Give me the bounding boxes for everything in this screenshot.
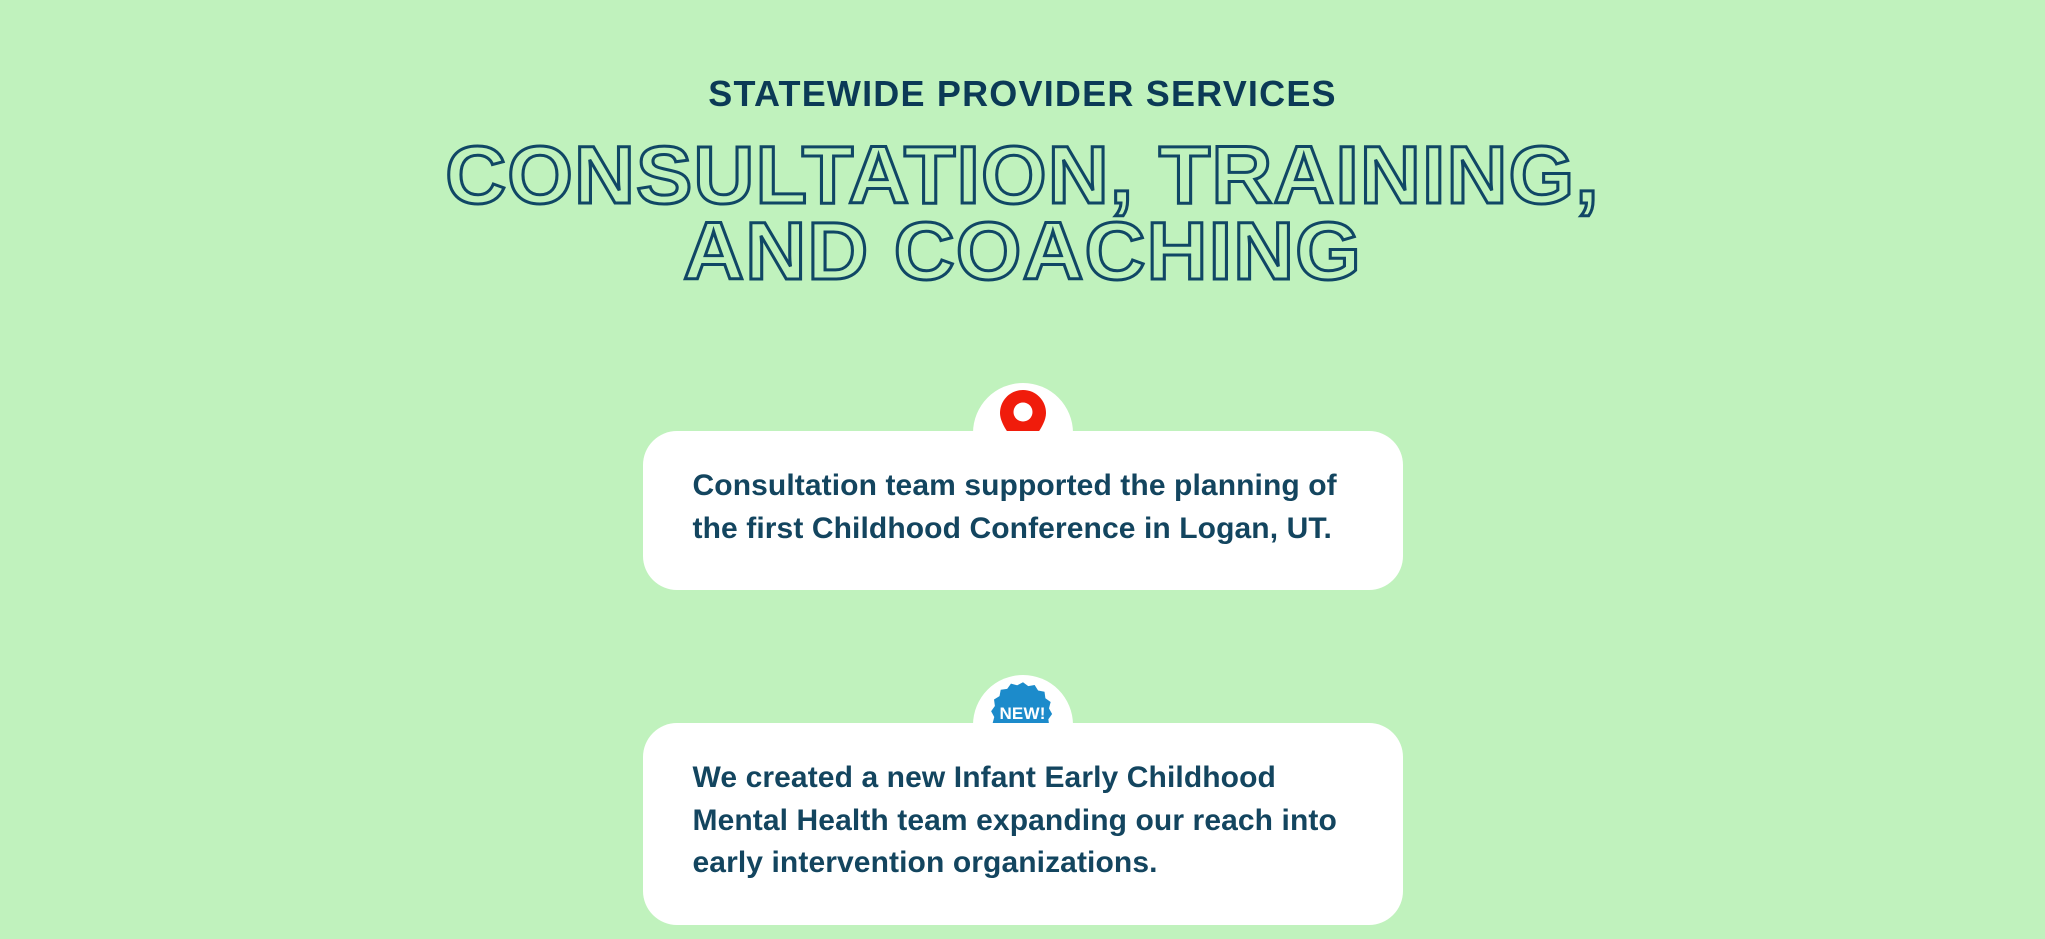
page-header: STATEWIDE PROVIDER SERVICES CONSULTATION…: [0, 76, 2045, 291]
card-text: We created a new Infant Early Childhood …: [693, 757, 1353, 885]
card-body: Consultation team supported the planning…: [643, 431, 1403, 590]
page-title: CONSULTATION, TRAINING, AND COACHING: [0, 138, 2045, 291]
new-badge-label: NEW!: [999, 705, 1045, 722]
page-root: STATEWIDE PROVIDER SERVICES CONSULTATION…: [0, 0, 2045, 939]
info-card: NEW! We created a new Infant Early Child…: [643, 675, 1403, 925]
card-text: Consultation team supported the planning…: [693, 465, 1353, 550]
info-card: Consultation team supported the planning…: [643, 383, 1403, 590]
card-body: We created a new Infant Early Childhood …: [643, 723, 1403, 925]
eyebrow-label: STATEWIDE PROVIDER SERVICES: [0, 76, 2045, 112]
page-title-line-1: CONSULTATION, TRAINING,: [0, 138, 2045, 214]
page-title-line-2: AND COACHING: [0, 214, 2045, 290]
